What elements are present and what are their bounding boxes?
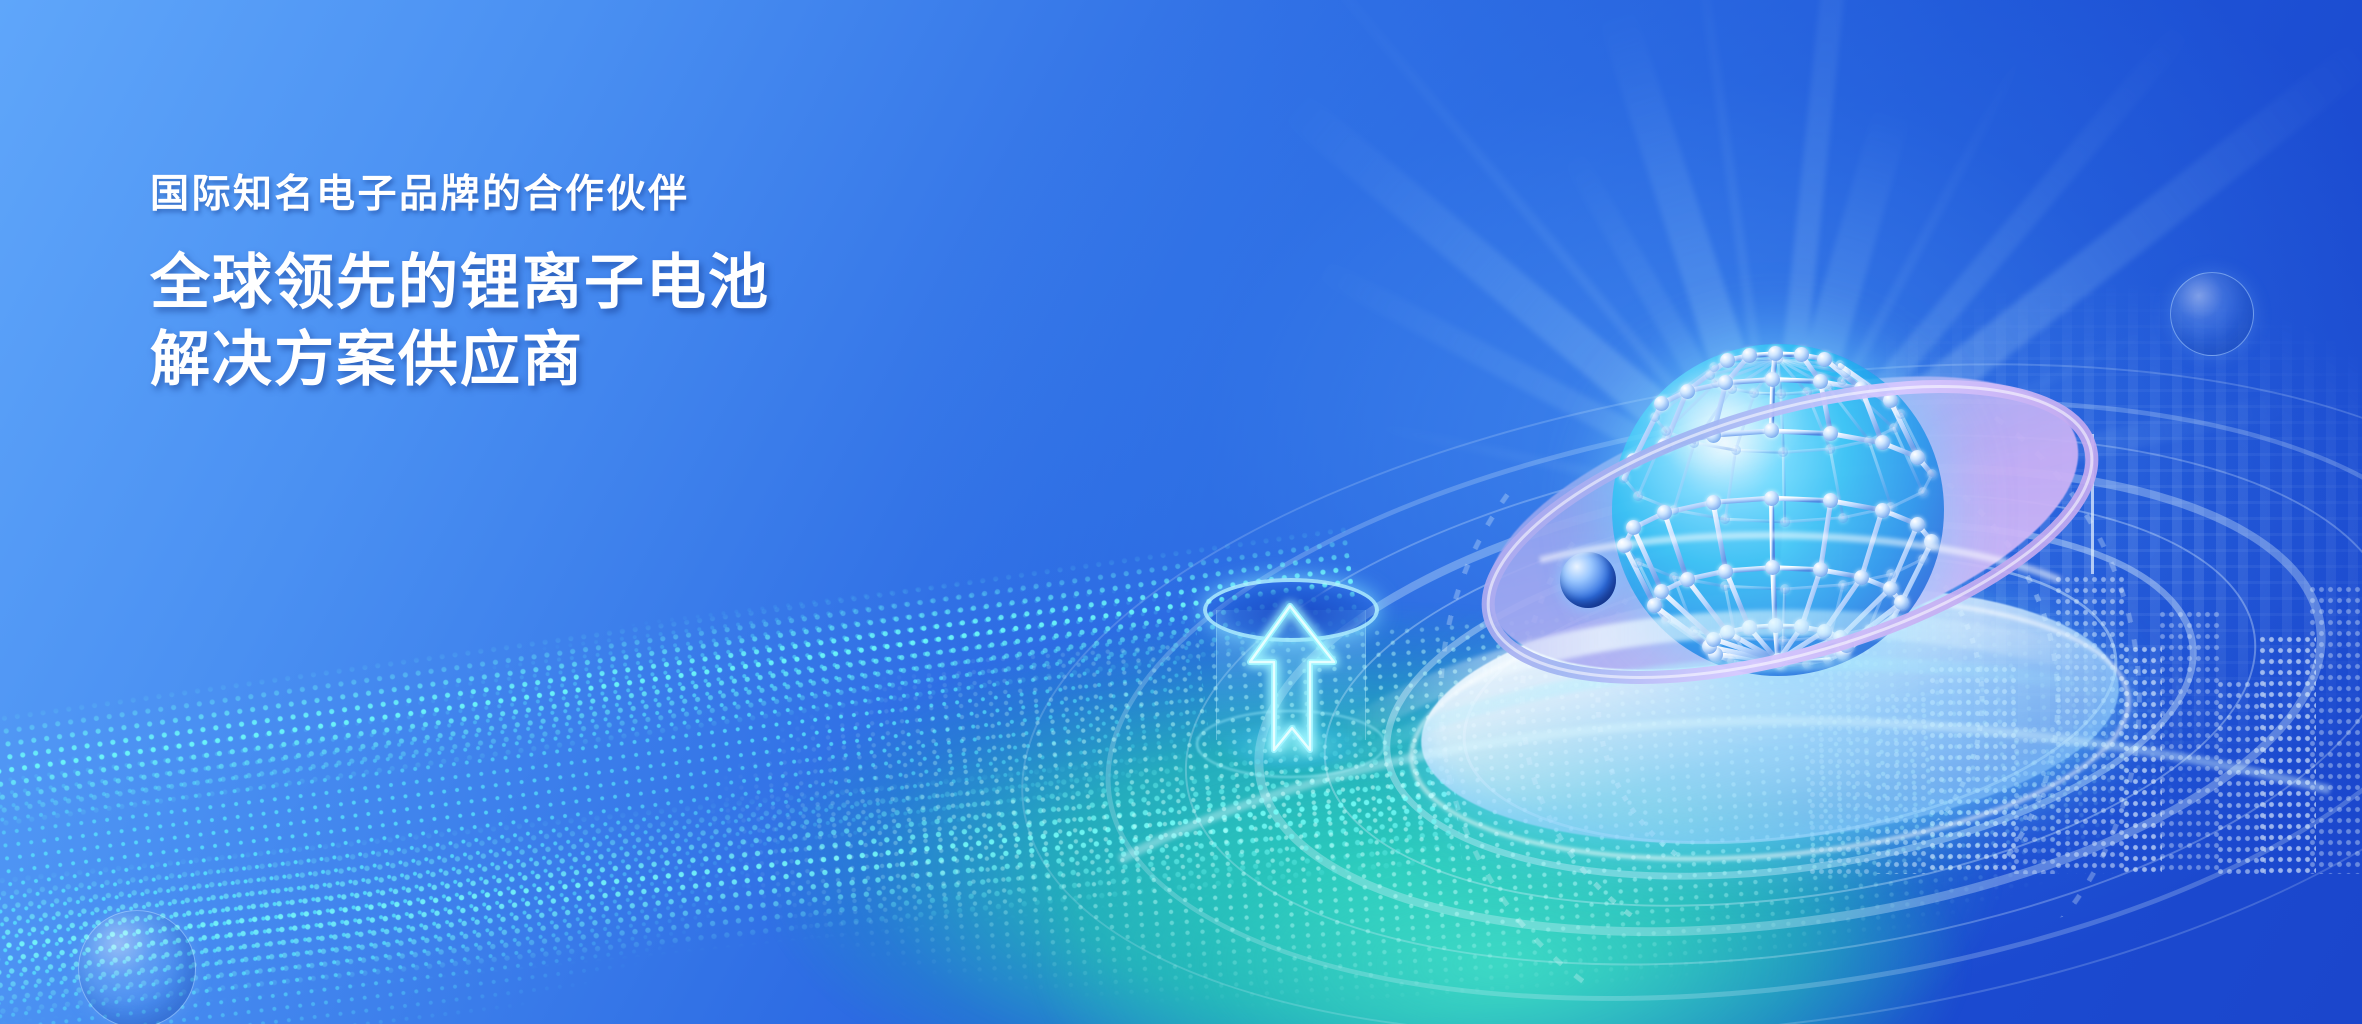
globe-node bbox=[1742, 348, 1757, 363]
globe-node bbox=[1709, 362, 1719, 372]
hero-eyebrow: 国际知名电子品牌的合作伙伴 bbox=[150, 172, 1010, 219]
globe-node bbox=[1768, 346, 1783, 361]
globe-node bbox=[1817, 352, 1832, 367]
hero-banner: 国际知名电子品牌的合作伙伴 全球领先的锂离子电池 解决方案供应商 bbox=[0, 0, 2362, 1024]
hero-headline: 全球领先的锂离子电池 解决方案供应商 bbox=[150, 245, 1010, 399]
glass-bubble-bottom-left bbox=[78, 910, 196, 1024]
globe-node bbox=[1720, 353, 1735, 368]
purple-orbit-ring-front bbox=[1460, 372, 2160, 702]
hero-copy: 国际知名电子品牌的合作伙伴 全球领先的锂离子电池 解决方案供应商 bbox=[150, 172, 1010, 398]
hero-headline-line-1: 全球领先的锂离子电池 bbox=[150, 245, 1010, 322]
hero-headline-line-2: 解决方案供应商 bbox=[150, 322, 1010, 399]
upward-growth-arrow-icon bbox=[1230, 600, 1350, 760]
glass-bubble-top-right bbox=[2170, 272, 2254, 356]
